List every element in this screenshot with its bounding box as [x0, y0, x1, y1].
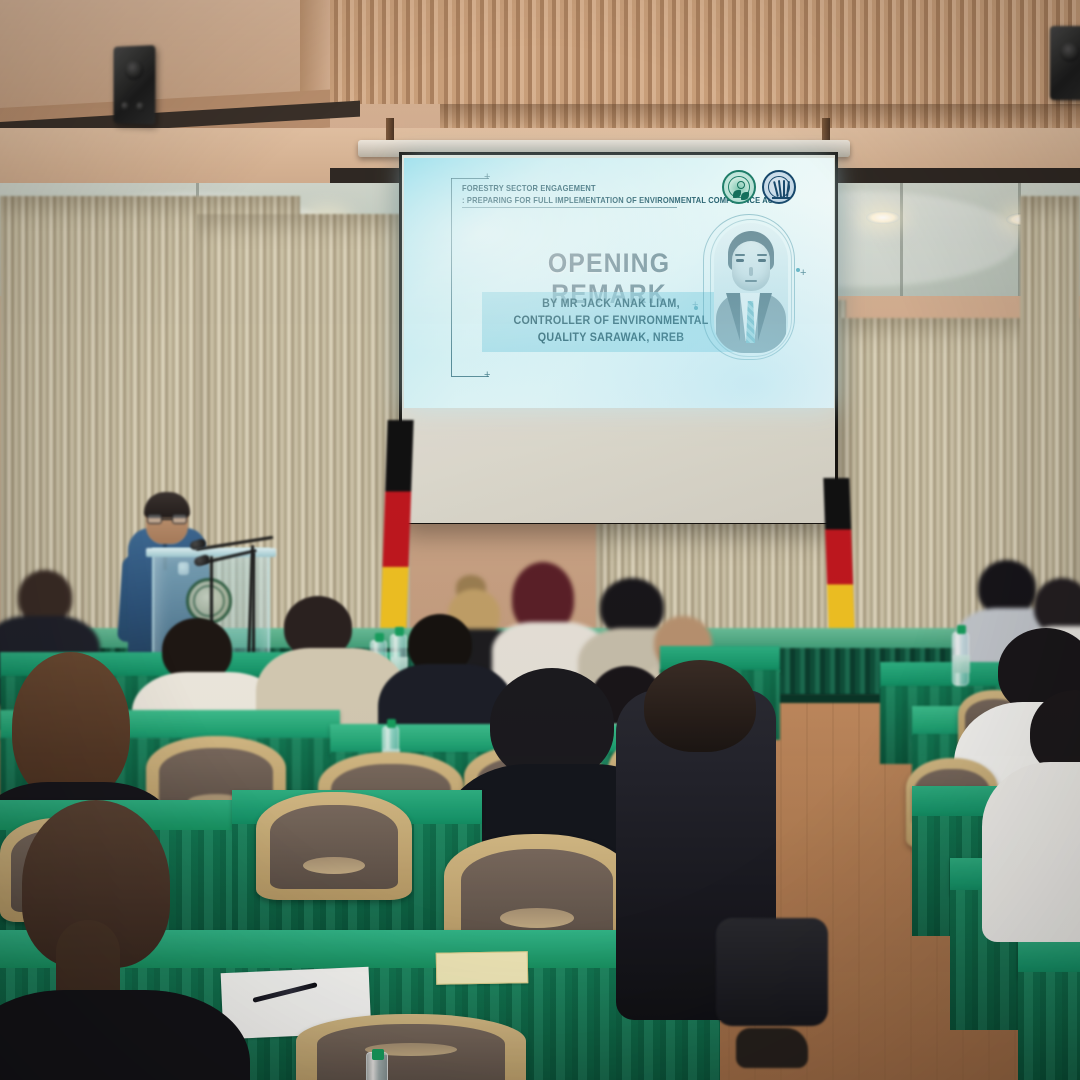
table-skirt — [1018, 972, 1080, 1080]
slide-footer — [462, 378, 662, 394]
slide-footer-line1 — [462, 378, 662, 386]
slide-header-line1: FORESTRY SECTOR ENGAGEMENT — [462, 183, 717, 193]
plus-tick-icon: + — [484, 172, 490, 183]
note-card — [436, 951, 529, 985]
water-bottle — [952, 632, 969, 686]
podium-crest-emblem — [186, 578, 232, 624]
conference-photo: + + + + FORESTRY SECTOR ENGAGEMENT : PRE… — [0, 0, 1080, 1080]
banquet-chair — [256, 792, 412, 900]
slide-footer-line2 — [462, 386, 662, 394]
downlight-icon — [866, 211, 900, 224]
eyeglasses-icon — [147, 514, 187, 524]
nreb-logo-icon — [722, 170, 756, 204]
speaker-portrait — [700, 214, 798, 364]
wall-speaker-icon — [114, 45, 156, 125]
slide-subtitle: BY MR JACK ANAK LIAM, CONTROLLER OF ENVI… — [491, 296, 731, 347]
sarawak-flag — [823, 478, 854, 630]
slide-bracket-line — [451, 178, 452, 376]
fluted-wood-ceiling-left — [318, 0, 442, 104]
projected-slide: + + + + FORESTRY SECTOR ENGAGEMENT : PRE… — [404, 158, 834, 408]
banquet-chair — [296, 1014, 526, 1080]
slide-subtitle-line1: BY MR JACK ANAK LIAM, — [491, 296, 731, 313]
slide-header-line2: : PREPARING FOR FULL IMPLEMENTATION OF E… — [462, 195, 717, 205]
wall-speaker-icon — [1050, 26, 1080, 100]
slide-subtitle-line2: CONTROLLER OF ENVIRONMENTAL — [491, 313, 731, 330]
slide-header: FORESTRY SECTOR ENGAGEMENT : PREPARING F… — [462, 183, 752, 205]
shoe — [736, 1028, 808, 1068]
backpack — [716, 918, 828, 1026]
attendee-head — [644, 660, 756, 752]
plus-tick-icon: + — [800, 268, 806, 279]
slide-subtitle-line3: QUALITY SARAWAK, NREB — [491, 330, 731, 347]
slide-header-rule — [462, 207, 677, 208]
water-bottle — [366, 1052, 388, 1080]
ceiling-shadow — [440, 104, 1080, 130]
secondary-agency-logo-icon — [762, 170, 796, 204]
